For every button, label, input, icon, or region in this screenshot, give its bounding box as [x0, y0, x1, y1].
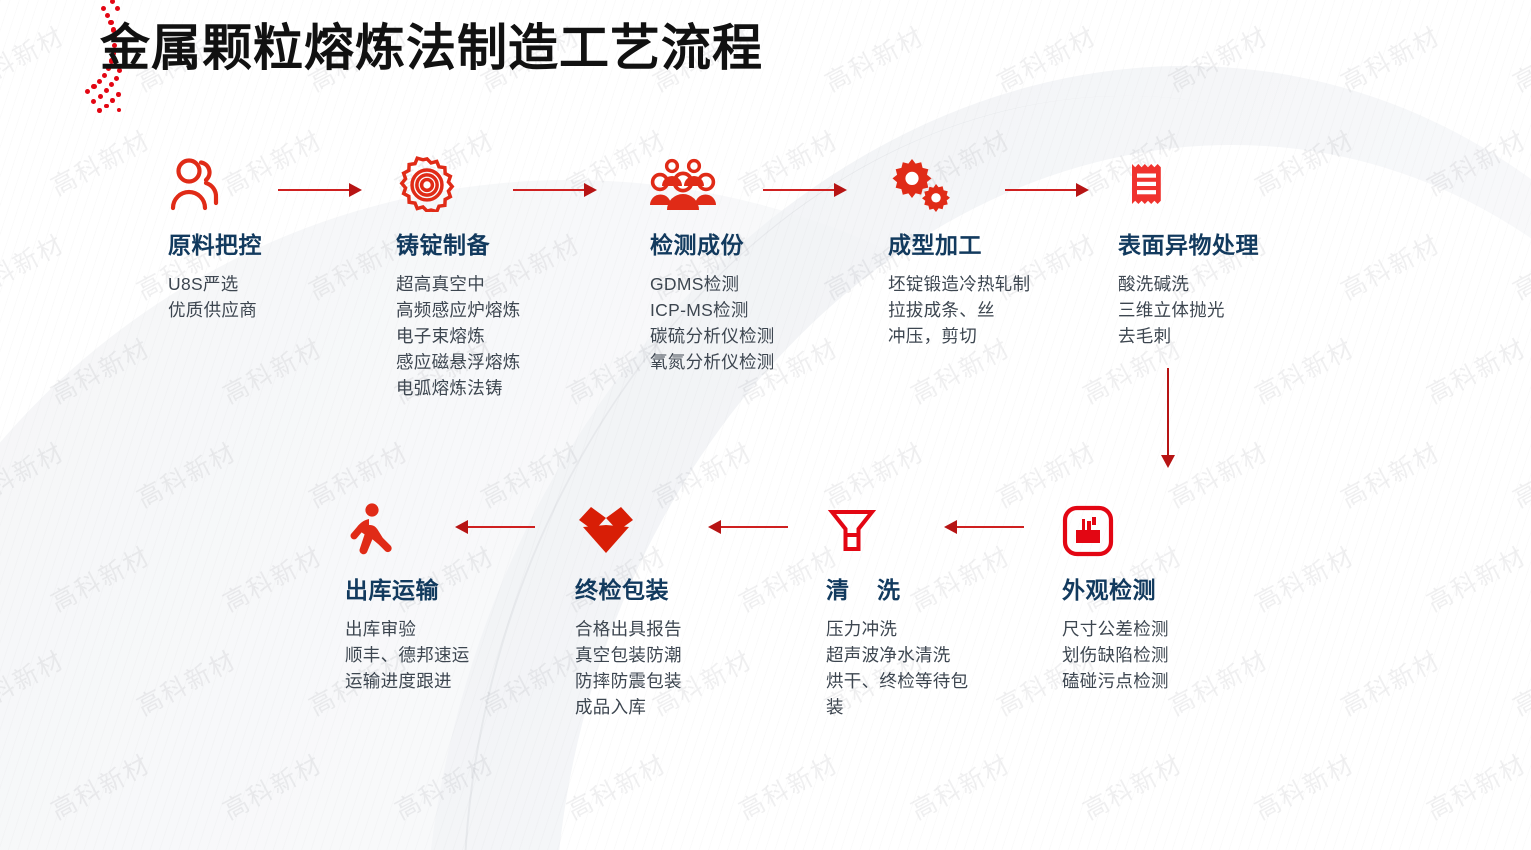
watermark-text: 高科新材: [44, 121, 156, 203]
watermark-text: 高科新材: [732, 745, 844, 827]
flow-step-6-lines: 尺寸公差检测 划伤缺陷检测 磕碰污点检测: [1062, 616, 1292, 694]
watermark-text: 高科新材: [1334, 641, 1446, 723]
watermark-text: 高科新材: [1076, 745, 1188, 827]
arrow-shaft: [763, 189, 834, 191]
watermark-text: 高科新材: [1162, 17, 1274, 99]
flow-step-2-lines: 超高真空中 高频感应炉熔炼 电子束熔炼 感应磁悬浮熔炼 电弧熔炼法铸: [396, 271, 626, 401]
flow-step-6-line-2: 划伤缺陷检测: [1062, 642, 1292, 668]
flow-step-2-line-3: 电子束熔炼: [396, 323, 626, 349]
flow-step-1-lines: U8S严选 优质供应商: [168, 271, 398, 323]
watermark-text: 高科新材: [44, 745, 156, 827]
watermark-text: 高科新材: [216, 329, 328, 411]
flow-step-1-line-2: 优质供应商: [168, 297, 398, 323]
watermark-text: 高科新材: [44, 329, 156, 411]
watermark-text: 高科新材: [1506, 433, 1531, 515]
flow-step-4-line-1: 坯锭锻造冷热轧制: [888, 271, 1118, 297]
flow-step-6-title: 外观检测: [1062, 571, 1292, 605]
decorative-dot: [110, 98, 115, 103]
watermark-text: 高科新材: [560, 745, 672, 827]
flow-step-7[interactable]: 清 洗 压力冲洗 超声波净水清洗 烘干、终检等待包装: [826, 497, 1056, 720]
arrow-head-down: [1161, 455, 1175, 468]
watermark-text: 高科新材: [388, 745, 500, 827]
people-group-icon: [650, 152, 880, 212]
arrow-step3-to-step4: [763, 184, 847, 196]
open-box-icon: [575, 497, 805, 557]
decorative-dot: [91, 84, 96, 89]
flow-step-4-title: 成型加工: [888, 226, 1118, 260]
decorative-dot: [104, 104, 109, 109]
arrow-step1-to-step2: [278, 184, 362, 196]
decorative-dot: [85, 89, 90, 94]
flow-step-2-line-2: 高频感应炉熔炼: [396, 297, 626, 323]
flow-step-5-lines: 酸洗碱洗 三维立体抛光 去毛刺: [1118, 271, 1348, 349]
flow-step-3-line-4: 氧氮分析仪检测: [650, 349, 880, 375]
flow-step-6[interactable]: 外观检测 尺寸公差检测 划伤缺陷检测 磕碰污点检测: [1062, 497, 1292, 694]
decorative-dot: [109, 82, 114, 87]
flow-step-9-line-1: 出库审验: [345, 616, 575, 642]
flow-step-8-line-3: 防摔防震包装: [575, 668, 805, 694]
funnel-icon: [826, 497, 1056, 557]
flow-step-9-line-2: 顺丰、德邦速运: [345, 642, 575, 668]
flow-step-5-title: 表面异物处理: [1118, 226, 1348, 260]
watermark-text: 高科新材: [216, 537, 328, 619]
flow-step-4-line-3: 冲压，剪切: [888, 323, 1118, 349]
flow-step-9-title: 出库运输: [345, 571, 575, 605]
flow-step-7-line-3: 烘干、终检等待包装: [826, 668, 986, 720]
arrow-shaft: [513, 189, 584, 191]
watermark-text: 高科新材: [818, 17, 930, 99]
page-title: 金属颗粒熔炼法制造工艺流程: [100, 8, 763, 80]
background-swoosh-right: [269, 0, 1531, 850]
flow-step-8-line-1: 合格出具报告: [575, 616, 805, 642]
arrow-step2-to-step3: [513, 184, 597, 196]
arrow-shaft: [278, 189, 349, 191]
watermark-text: 高科新材: [130, 641, 242, 723]
flow-step-8[interactable]: 终检包装 合格出具报告 真空包装防潮 防摔防震包装 成品入库: [575, 497, 805, 720]
flow-step-8-line-2: 真空包装防潮: [575, 642, 805, 668]
watermark-text: 高科新材: [990, 17, 1102, 99]
flow-step-1-title: 原料把控: [168, 226, 398, 260]
decorative-dot: [98, 94, 103, 99]
flow-step-5-line-1: 酸洗碱洗: [1118, 271, 1348, 297]
flow-step-5-line-2: 三维立体抛光: [1118, 297, 1348, 323]
background-curve-line: [327, 0, 1531, 850]
factory-badge-icon: [1062, 497, 1292, 557]
gear-rings-icon: [396, 152, 626, 212]
background-decoration: [0, 0, 1531, 850]
background-swoosh-highlight: [418, 26, 1531, 850]
decorative-dot: [110, 0, 115, 4]
flow-step-9[interactable]: 出库运输 出库审验 顺丰、德邦速运 运输进度跟进: [345, 497, 575, 694]
flow-step-8-title: 终检包装: [575, 571, 805, 605]
flow-step-6-line-3: 磕碰污点检测: [1062, 668, 1292, 694]
watermark-text: 高科新材: [130, 433, 242, 515]
decorative-dot: [117, 108, 121, 112]
users-outline-icon: [168, 152, 398, 212]
watermark-text: 高科新材: [0, 433, 70, 515]
flow-step-2-line-1: 超高真空中: [396, 271, 626, 297]
flow-step-2-line-4: 感应磁悬浮熔炼: [396, 349, 626, 375]
flow-step-3-line-3: 碳硫分析仪检测: [650, 323, 880, 349]
arrow-head-right: [1076, 183, 1089, 197]
flow-step-4[interactable]: 成型加工 坯锭锻造冷热轧制 拉拔成条、丝 冲压，剪切: [888, 152, 1118, 349]
flow-step-9-lines: 出库审验 顺丰、德邦速运 运输进度跟进: [345, 616, 575, 694]
flow-step-8-lines: 合格出具报告 真空包装防潮 防摔防震包装 成品入库: [575, 616, 805, 720]
watermark-text: 高科新材: [904, 745, 1016, 827]
flow-step-3-line-1: GDMS检测: [650, 271, 880, 297]
flow-step-7-line-2: 超声波净水清洗: [826, 642, 1056, 668]
decorative-dot: [91, 99, 96, 104]
decorative-dot: [116, 92, 121, 97]
flow-step-3-lines: GDMS检测 ICP-MS检测 碳硫分析仪检测 氧氮分析仪检测: [650, 271, 880, 375]
watermark-text: 高科新材: [216, 745, 328, 827]
watermark-text: 高科新材: [0, 225, 70, 307]
watermark-text: 高科新材: [1334, 433, 1446, 515]
slide-canvas: 高科新材高科新材高科新材高科新材高科新材高科新材高科新材高科新材高科新材高科新材…: [0, 0, 1531, 850]
watermark-text: 高科新材: [1334, 17, 1446, 99]
watermark-text: 高科新材: [1506, 17, 1531, 99]
flow-step-5-line-3: 去毛刺: [1118, 323, 1348, 349]
watermark-text: 高科新材: [1248, 745, 1360, 827]
flow-step-7-title: 清 洗: [826, 571, 1056, 605]
flow-step-7-lines: 压力冲洗 超声波净水清洗 烘干、终检等待包装: [826, 616, 1056, 720]
decorative-dot: [97, 108, 102, 113]
background-hatch-pattern: [0, 0, 1531, 850]
flow-step-3-line-2: ICP-MS检测: [650, 297, 880, 323]
flow-step-9-line-3: 运输进度跟进: [345, 668, 575, 694]
watermark-text: 高科新材: [0, 641, 70, 723]
flow-step-8-line-4: 成品入库: [575, 694, 805, 720]
watermark-text: 高科新材: [44, 537, 156, 619]
arrow-step4-to-step5: [1005, 184, 1089, 196]
flow-step-4-line-2: 拉拔成条、丝: [888, 297, 1118, 323]
flow-step-7-line-1: 压力冲洗: [826, 616, 1056, 642]
flow-step-3-title: 检测成份: [650, 226, 880, 260]
flow-step-2-line-5: 电弧熔炼法铸: [396, 375, 626, 401]
watermark-text: 高科新材: [1506, 641, 1531, 723]
arrow-shaft: [1167, 368, 1169, 455]
watermark-text: 高科新材: [1420, 329, 1531, 411]
decorative-dot: [104, 88, 109, 93]
running-person-icon: [345, 497, 575, 557]
flow-step-5[interactable]: 表面异物处理 酸洗碱洗 三维立体抛光 去毛刺: [1118, 152, 1348, 349]
two-gears-icon: [888, 152, 1118, 212]
flow-step-2-title: 铸锭制备: [396, 226, 626, 260]
arrow-head-right: [584, 183, 597, 197]
arrow-step5-to-step6: [1161, 368, 1175, 468]
watermark-text: 高科新材: [1506, 225, 1531, 307]
arrow-head-right: [834, 183, 847, 197]
arrow-head-right: [349, 183, 362, 197]
watermark-text: 高科新材: [1334, 225, 1446, 307]
flow-step-6-line-1: 尺寸公差检测: [1062, 616, 1292, 642]
flow-step-1-line-1: U8S严选: [168, 271, 398, 297]
flow-step-1[interactable]: 原料把控 U8S严选 优质供应商: [168, 152, 398, 323]
receipt-icon: [1118, 152, 1348, 212]
flow-step-4-lines: 坯锭锻造冷热轧制 拉拔成条、丝 冲压，剪切: [888, 271, 1118, 349]
arrow-shaft: [1005, 189, 1076, 191]
watermark-layer: 高科新材高科新材高科新材高科新材高科新材高科新材高科新材高科新材高科新材高科新材…: [0, 0, 1531, 850]
watermark-text: 高科新材: [1420, 121, 1531, 203]
watermark-text: 高科新材: [1420, 745, 1531, 827]
watermark-text: 高科新材: [1420, 537, 1531, 619]
